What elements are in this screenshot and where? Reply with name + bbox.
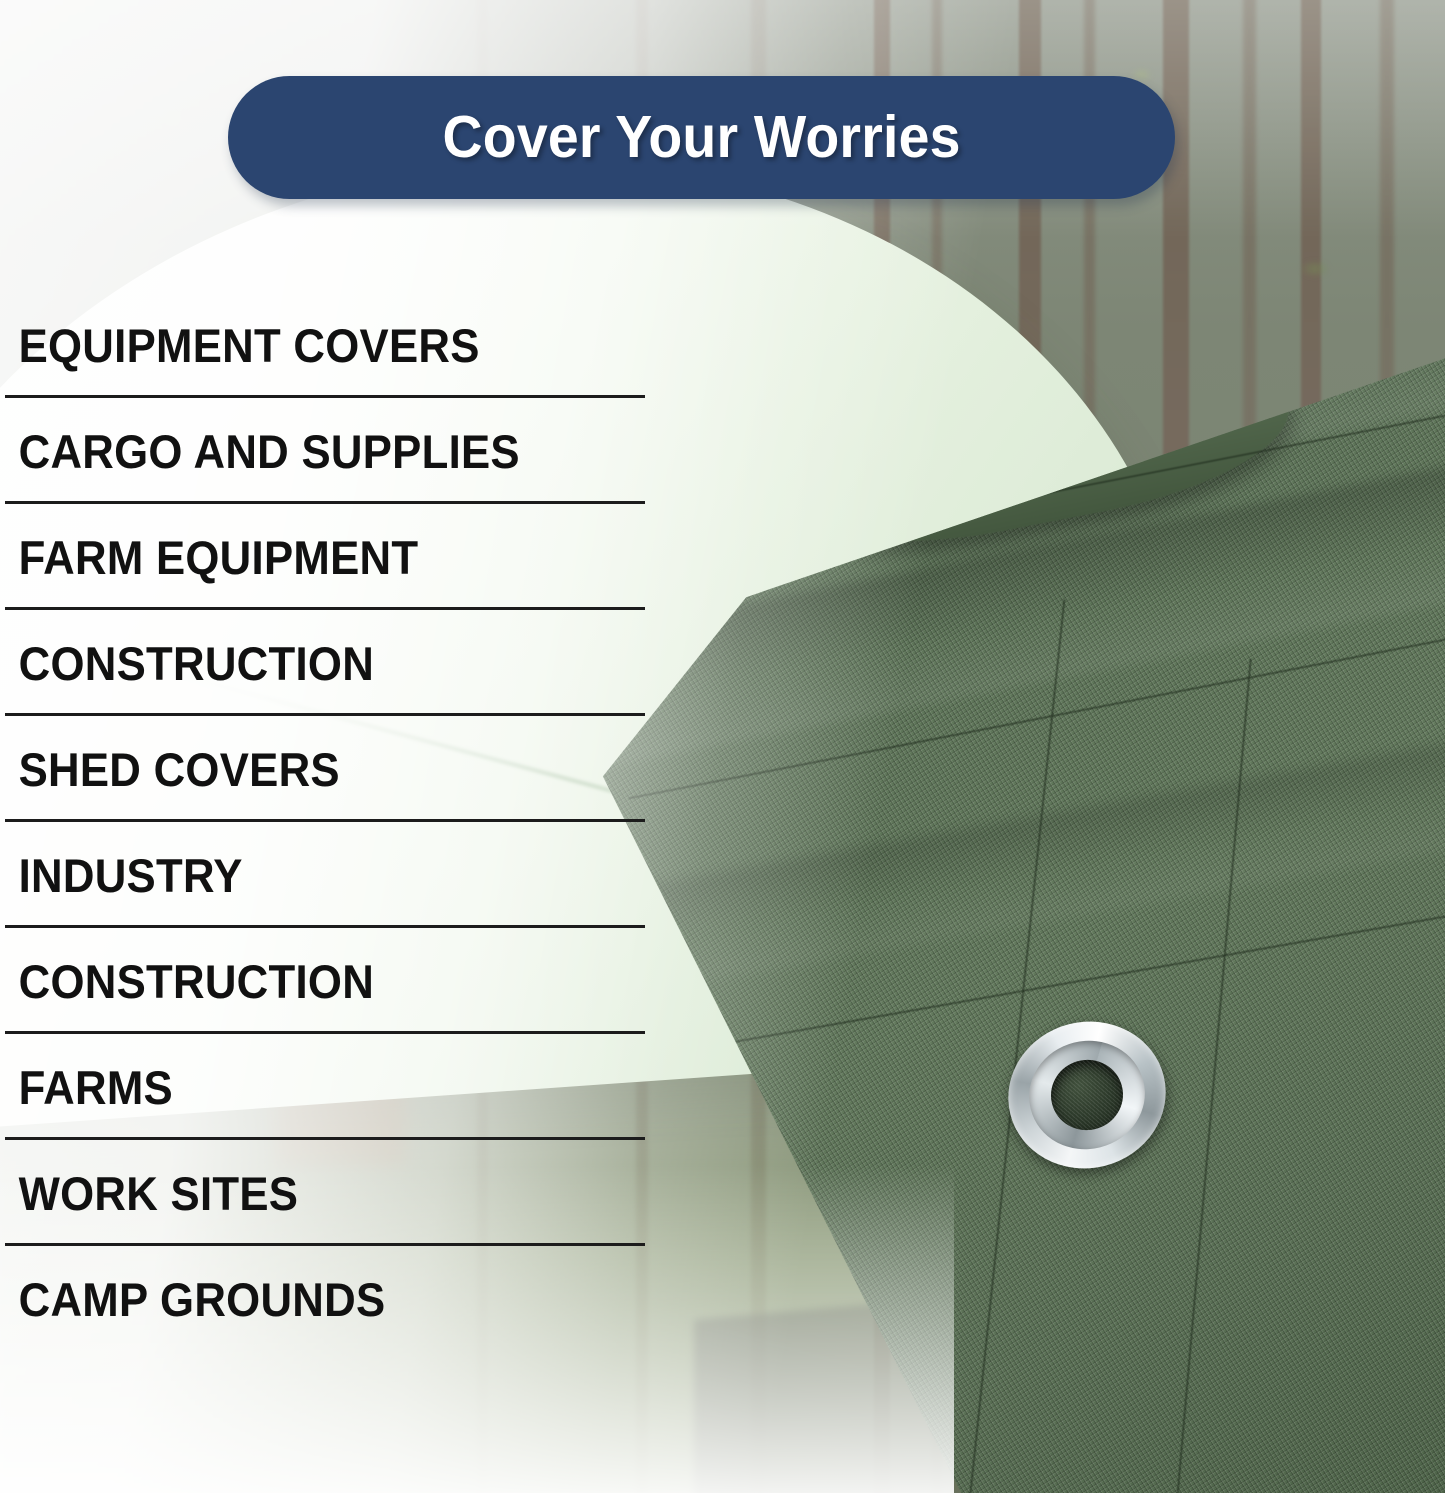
feature-label: CAMP GROUNDS xyxy=(0,1276,385,1323)
list-item: CARGO AND SUPPLIES xyxy=(0,398,660,504)
list-item: WORK SITES xyxy=(0,1140,660,1246)
feature-label: FARMS xyxy=(0,1064,173,1111)
feature-label: FARM EQUIPMENT xyxy=(0,534,418,581)
list-item: CONSTRUCTION xyxy=(0,610,660,716)
feature-label: CARGO AND SUPPLIES xyxy=(0,428,520,475)
list-item: FARM EQUIPMENT xyxy=(0,504,660,610)
feature-label: SHED COVERS xyxy=(0,746,340,793)
list-item: INDUSTRY xyxy=(0,822,660,928)
headline-banner: Cover Your Worries xyxy=(228,76,1175,199)
feature-list: EQUIPMENT COVERS CARGO AND SUPPLIES FARM… xyxy=(0,292,660,1352)
feature-label: INDUSTRY xyxy=(0,852,243,899)
list-item: EQUIPMENT COVERS xyxy=(0,292,660,398)
feature-label: WORK SITES xyxy=(0,1170,298,1217)
feature-label: CONSTRUCTION xyxy=(0,640,374,687)
list-item: CAMP GROUNDS xyxy=(0,1246,660,1352)
headline-text: Cover Your Worries xyxy=(442,108,960,167)
feature-label: EQUIPMENT COVERS xyxy=(0,322,480,369)
list-item: FARMS xyxy=(0,1034,660,1140)
feature-label: CONSTRUCTION xyxy=(0,958,374,1005)
list-item: SHED COVERS xyxy=(0,716,660,822)
list-item: CONSTRUCTION xyxy=(0,928,660,1034)
product-marketing-image: Cover Your Worries EQUIPMENT COVERS CARG… xyxy=(0,0,1445,1493)
